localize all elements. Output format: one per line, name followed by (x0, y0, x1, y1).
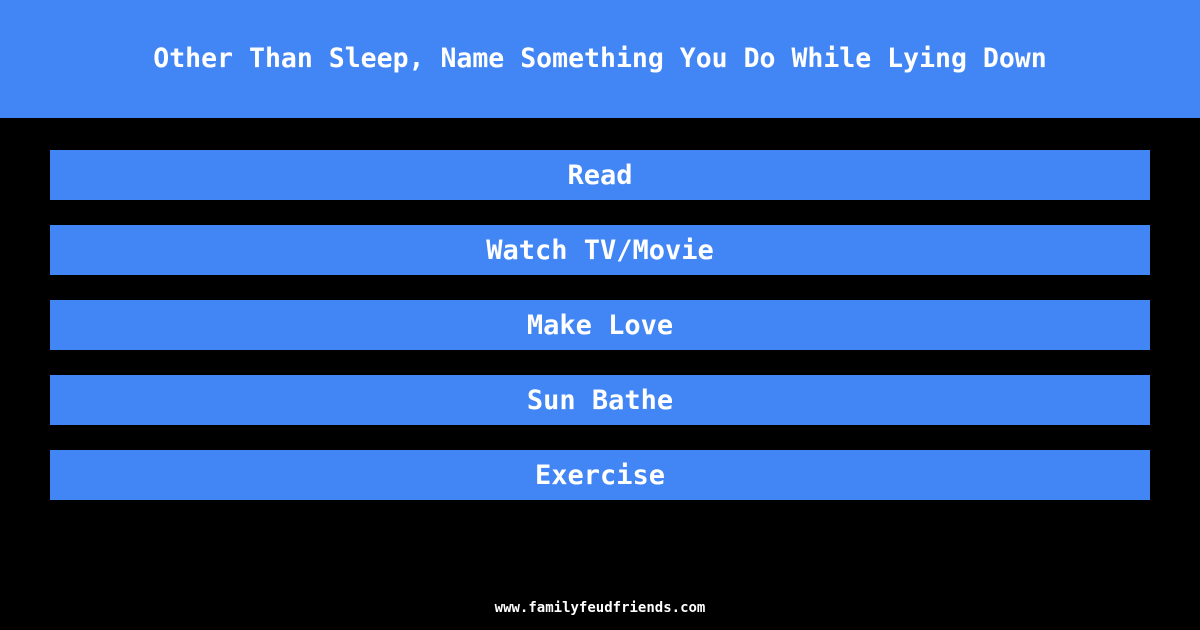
list-item[interactable]: Watch TV/Movie (50, 225, 1150, 275)
page-title: Other Than Sleep, Name Something You Do … (153, 46, 1046, 73)
question-header: Other Than Sleep, Name Something You Do … (0, 0, 1200, 118)
answer-list: Read Watch TV/Movie Make Love Sun Bathe … (50, 150, 1150, 500)
answer-label: Make Love (527, 312, 673, 339)
list-item[interactable]: Sun Bathe (50, 375, 1150, 425)
survey-answer-card: Other Than Sleep, Name Something You Do … (0, 0, 1200, 630)
list-item[interactable]: Make Love (50, 300, 1150, 350)
answer-label: Exercise (535, 462, 665, 489)
footer: www.familyfeudfriends.com (0, 598, 1200, 618)
answer-label: Sun Bathe (527, 387, 673, 414)
list-item[interactable]: Exercise (50, 450, 1150, 500)
answer-label: Watch TV/Movie (486, 237, 714, 264)
site-url: www.familyfeudfriends.com (495, 601, 706, 615)
list-item[interactable]: Read (50, 150, 1150, 200)
answer-label: Read (567, 162, 632, 189)
